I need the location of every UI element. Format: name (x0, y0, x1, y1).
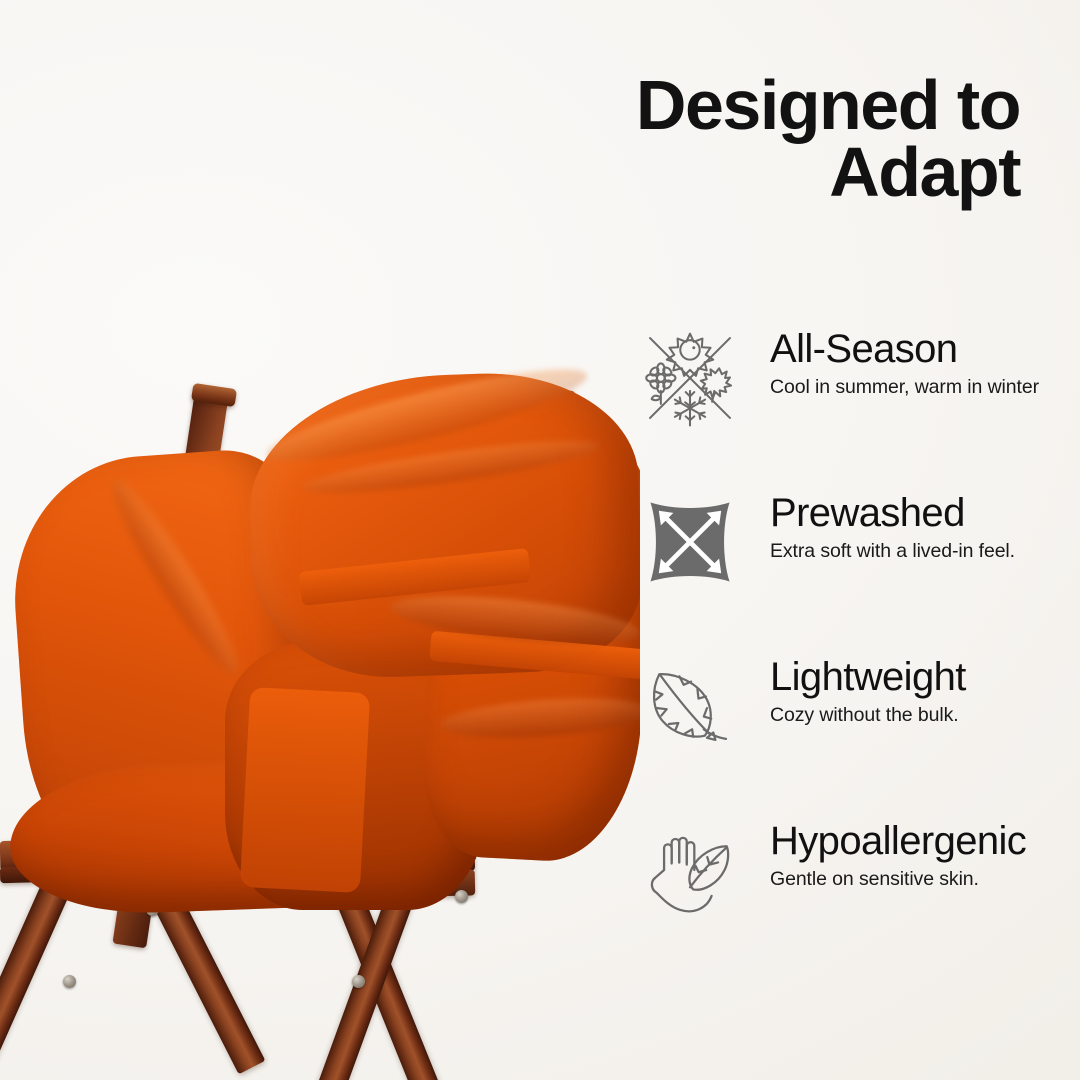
feature-item-prewashed: Prewashed Extra soft with a lived-in fee… (628, 482, 1068, 646)
feature-heading: Prewashed (770, 492, 1070, 535)
feature-text: Hypoallergenic Gentle on sensitive skin. (770, 820, 1070, 891)
feature-heading: Hypoallergenic (770, 820, 1070, 863)
feature-heading: Lightweight (770, 656, 1070, 699)
title-line-2: Adapt (500, 139, 1020, 206)
four-seasons-icon (630, 322, 750, 434)
feather-icon (630, 650, 750, 762)
feature-list: All-Season Cool in summer, warm in winte… (628, 318, 1068, 974)
feature-subtext: Gentle on sensitive skin. (770, 868, 1070, 891)
feature-text: All-Season Cool in summer, warm in winte… (770, 328, 1070, 399)
feature-subtext: Extra soft with a lived-in feel. (770, 540, 1070, 563)
feature-item-all-season: All-Season Cool in summer, warm in winte… (628, 318, 1068, 482)
feature-item-lightweight: Lightweight Cozy without the bulk. (628, 646, 1068, 810)
feature-text: Lightweight Cozy without the bulk. (770, 656, 1070, 727)
hand-with-leaf-icon (630, 814, 750, 926)
feature-item-hypoallergenic: Hypoallergenic Gentle on sensitive skin. (628, 810, 1068, 974)
chair-pivot-bolt (352, 975, 365, 988)
feature-subtext: Cool in summer, warm in winter (770, 376, 1070, 399)
infographic-canvas: Designed to Adapt (0, 0, 1080, 1080)
chair-pivot-bolt (455, 890, 468, 903)
blanket-hem (240, 687, 370, 893)
prewashed-fabric-arrows-icon (630, 486, 750, 598)
feature-text: Prewashed Extra soft with a lived-in fee… (770, 492, 1070, 563)
feature-subtext: Cozy without the bulk. (770, 704, 1070, 727)
chair-pivot-bolt (63, 975, 76, 988)
page-title: Designed to Adapt (500, 72, 1020, 206)
feature-heading: All-Season (770, 328, 1070, 371)
